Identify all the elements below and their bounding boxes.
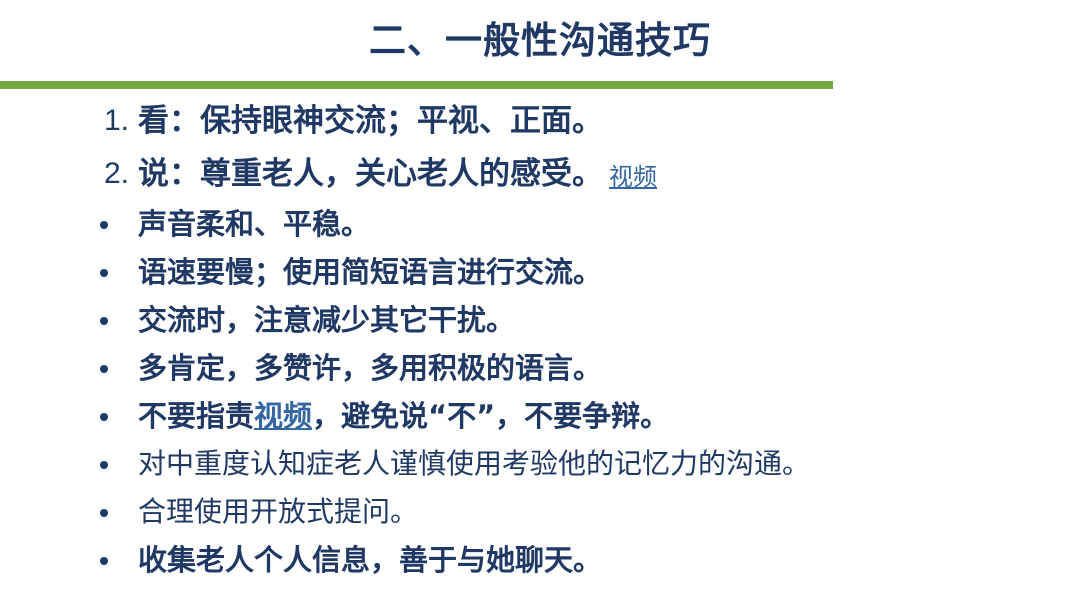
list-item: 对中重度认知症老人谨慎使用考验他的记忆力的沟通。 (0, 440, 1080, 488)
item-number: 2. (104, 154, 129, 194)
list-item-label: 收集老人个人信息，善于与她聊天。 (138, 541, 602, 579)
slide-root: 二、一般性沟通技巧 1. 看：保持眼神交流；平视、正面。 2. 说：尊重老人，关… (0, 0, 1080, 608)
bullet-dot-icon (100, 269, 108, 277)
video-link[interactable]: 视频 (254, 397, 312, 435)
list-item-label-after: ，避免说“不”，不要争辩。 (312, 397, 669, 435)
list-item-label: 语速要慢；使用简短语言进行交流。 (138, 253, 602, 291)
list-item: 语速要慢；使用简短语言进行交流。 (0, 248, 1080, 296)
content-list: 1. 看：保持眼神交流；平视、正面。 2. 说：尊重老人，关心老人的感受。 视频… (0, 94, 1080, 584)
page-title: 二、一般性沟通技巧 (0, 18, 1080, 64)
list-item: 收集老人个人信息，善于与她聊天。 (0, 536, 1080, 584)
list-item-label: 多肯定，多赞许，多用积极的语言。 (138, 349, 602, 387)
bullet-dot-icon (100, 413, 108, 421)
numbered-item-2: 2. 说：尊重老人，关心老人的感受。 视频 (0, 147, 1080, 200)
list-item-label: 合理使用开放式提问。 (138, 493, 418, 531)
list-item-with-link: 不要指责视频，避免说“不”，不要争辩。 (0, 392, 1080, 440)
list-item: 合理使用开放式提问。 (0, 488, 1080, 536)
list-item-label: 对中重度认知症老人谨慎使用考验他的记忆力的沟通。 (138, 445, 810, 483)
list-item-label: 交流时，注意减少其它干扰。 (138, 301, 515, 339)
numbered-item-1: 1. 看：保持眼神交流；平视、正面。 (0, 94, 1080, 147)
list-item: 声音柔和、平稳。 (0, 200, 1080, 248)
title-divider-rule (0, 81, 833, 89)
video-link[interactable]: 视频 (609, 157, 657, 197)
bullet-dot-icon (100, 509, 108, 517)
list-item: 多肯定，多赞许，多用积极的语言。 (0, 344, 1080, 392)
list-item-label: 声音柔和、平稳。 (138, 205, 370, 243)
bullet-dot-icon (100, 317, 108, 325)
item-text: 说：尊重老人，关心老人的感受。 (138, 154, 603, 194)
bullet-dot-icon (100, 461, 108, 469)
list-item: 交流时，注意减少其它干扰。 (0, 296, 1080, 344)
bullet-dot-icon (100, 221, 108, 229)
list-item-label-before: 不要指责 (138, 397, 254, 435)
item-text: 看：保持眼神交流；平视、正面。 (138, 101, 603, 141)
item-number: 1. (104, 101, 129, 141)
bullet-dot-icon (100, 365, 108, 373)
bullet-dot-icon (100, 557, 108, 565)
